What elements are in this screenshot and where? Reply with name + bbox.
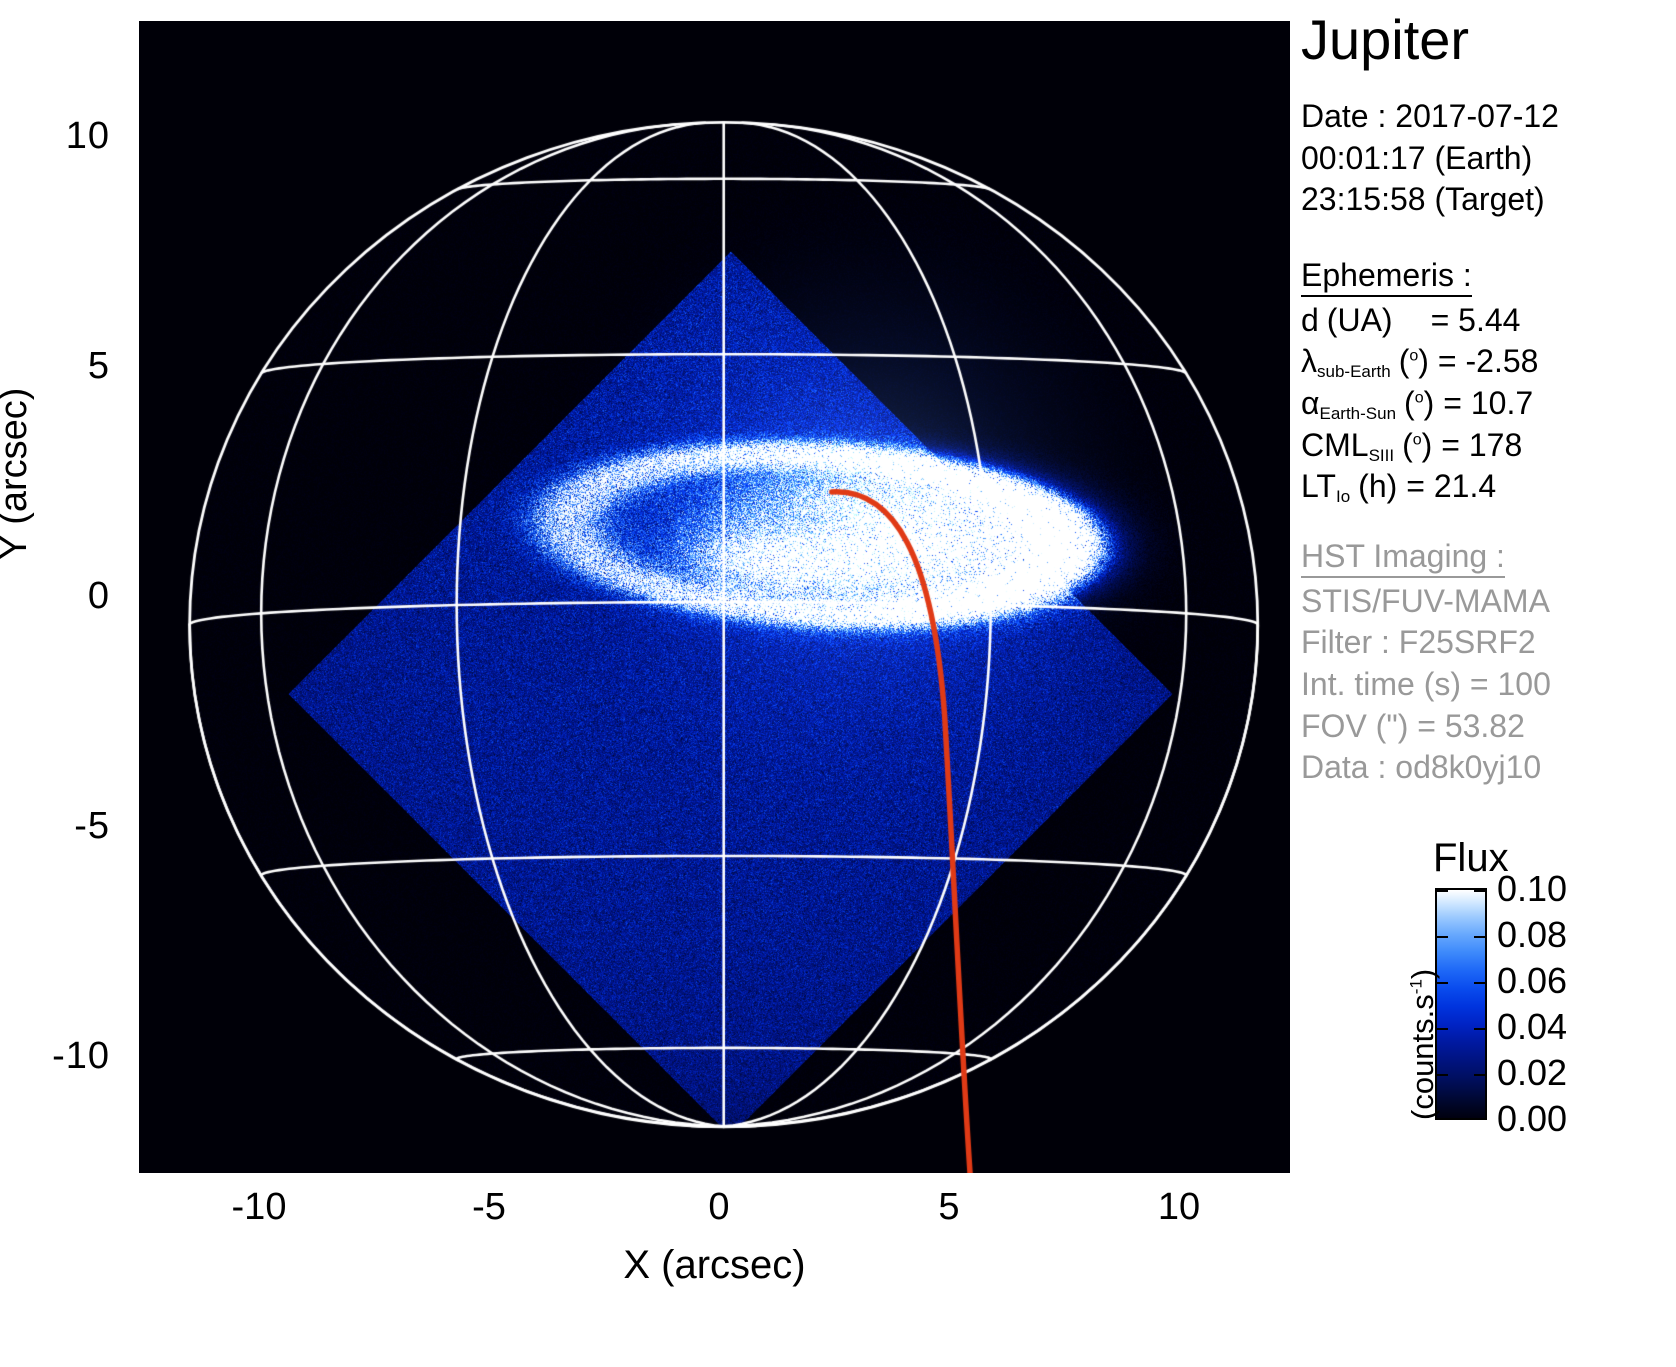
- eph-value: = 5.44: [1431, 302, 1521, 338]
- colorbar-axis-title-prefix: (counts.s: [1405, 994, 1440, 1120]
- eph-value: = -2.58: [1438, 343, 1539, 379]
- hst-filter: Filter : F25SRF2: [1301, 622, 1676, 664]
- hst-instrument: STIS/FUV-MAMA: [1301, 581, 1676, 623]
- colorbar-tick: [1474, 1074, 1485, 1076]
- colorbar-tick: [1437, 936, 1448, 938]
- eph-unit: (o): [1404, 385, 1434, 421]
- eph-subscript: SIII: [1369, 446, 1395, 465]
- eph-unit: (o): [1402, 427, 1432, 463]
- y-axis-label-text: Y (arcsec): [0, 388, 35, 560]
- eph-value: = 10.7: [1443, 385, 1533, 421]
- ephemeris-row-cml: CMLSIII(o)= 178: [1301, 425, 1676, 467]
- colorbar-axis-title: (counts.s-1): [1405, 969, 1441, 1120]
- eph-symbol: LT: [1301, 468, 1336, 504]
- colorbar-axis-title-suffix: ): [1405, 969, 1440, 979]
- y-axis-label: Y (arcsec): [0, 388, 36, 560]
- eph-symbol: CML: [1301, 427, 1369, 463]
- aurora-image-canvas: [139, 21, 1290, 1173]
- y-tick-label: 0: [88, 577, 110, 615]
- eph-value: = 21.4: [1406, 468, 1496, 504]
- ephemeris-row-sub-earth-latitude: λsub-Earth(o)= -2.58: [1301, 341, 1676, 383]
- page-title: Jupiter: [1301, 12, 1676, 68]
- x-tick-label: 10: [1119, 1188, 1239, 1226]
- colorbar-tick-label: 0.06: [1497, 963, 1567, 999]
- eph-symbol: d: [1301, 302, 1319, 338]
- eph-subscript: Io: [1336, 487, 1350, 506]
- hst-integration-time: Int. time (s) = 100: [1301, 664, 1676, 706]
- colorbar-tick-label: 0.02: [1497, 1055, 1567, 1091]
- eph-symbol: α: [1301, 385, 1320, 421]
- colorbar-tick-label: 0.04: [1497, 1009, 1567, 1045]
- y-tick-label: 10: [66, 117, 110, 155]
- colorbar-tick-label: 0.08: [1497, 917, 1567, 953]
- observation-time-target: 23:15:58 (Target): [1301, 179, 1676, 221]
- eph-unit: (o): [1399, 343, 1429, 379]
- hst-imaging-heading: HST Imaging :: [1301, 538, 1505, 578]
- observation-time-earth: 00:01:17 (Earth): [1301, 138, 1676, 180]
- y-tick-label: -5: [74, 807, 110, 845]
- colorbar-tick: [1474, 890, 1485, 892]
- ephemeris-row-phase-angle: αEarth-Sun(o)= 10.7: [1301, 383, 1676, 425]
- eph-unit: (h): [1358, 468, 1397, 504]
- colorbar-tick: [1437, 890, 1448, 892]
- colorbar-axis-title-exponent: -1: [1407, 979, 1426, 994]
- ephemeris-row-distance: d(UA)= 5.44: [1301, 300, 1676, 342]
- hst-dataset-id: Data : od8k0yj10: [1301, 747, 1676, 789]
- hst-imaging-block: HST Imaging : STIS/FUV-MAMA Filter : F25…: [1301, 538, 1676, 789]
- x-axis-label-text: X (arcsec): [623, 1243, 805, 1287]
- x-tick-label: 0: [659, 1188, 779, 1226]
- x-tick-label: -5: [429, 1188, 549, 1226]
- eph-unit: (UA): [1327, 302, 1393, 338]
- eph-symbol: λ: [1301, 343, 1317, 379]
- y-tick-label: 5: [88, 347, 110, 385]
- jupiter-image-plot: [139, 21, 1290, 1173]
- colorbar-tick-label: 0.00: [1497, 1101, 1567, 1137]
- eph-subscript: sub-Earth: [1317, 362, 1391, 381]
- x-axis-label: X (arcsec): [139, 1243, 1290, 1288]
- observation-info-panel: Jupiter Date : 2017-07-12 00:01:17 (Eart…: [1301, 0, 1676, 789]
- eph-value: = 178: [1441, 427, 1522, 463]
- ephemeris-row-io-local-time: LTIo(h)= 21.4: [1301, 466, 1676, 508]
- colorbar-gradient: [1435, 888, 1487, 1120]
- colorbar-tick: [1474, 1028, 1485, 1030]
- colorbar-tick-label: 0.10: [1497, 871, 1567, 907]
- ephemeris-block: Ephemeris : d(UA)= 5.44 λsub-Earth(o)= -…: [1301, 257, 1676, 508]
- hst-field-of-view: FOV (") = 53.82: [1301, 706, 1676, 748]
- eph-subscript: Earth-Sun: [1320, 404, 1397, 423]
- y-tick-label: -10: [52, 1037, 110, 1075]
- ephemeris-heading: Ephemeris :: [1301, 257, 1472, 297]
- colorbar-tick: [1474, 982, 1485, 984]
- colorbar-tick: [1474, 936, 1485, 938]
- observation-date-block: Date : 2017-07-12 00:01:17 (Earth) 23:15…: [1301, 96, 1676, 221]
- x-tick-label: 5: [889, 1188, 1009, 1226]
- observation-date: Date : 2017-07-12: [1301, 96, 1676, 138]
- x-tick-label: -10: [199, 1188, 319, 1226]
